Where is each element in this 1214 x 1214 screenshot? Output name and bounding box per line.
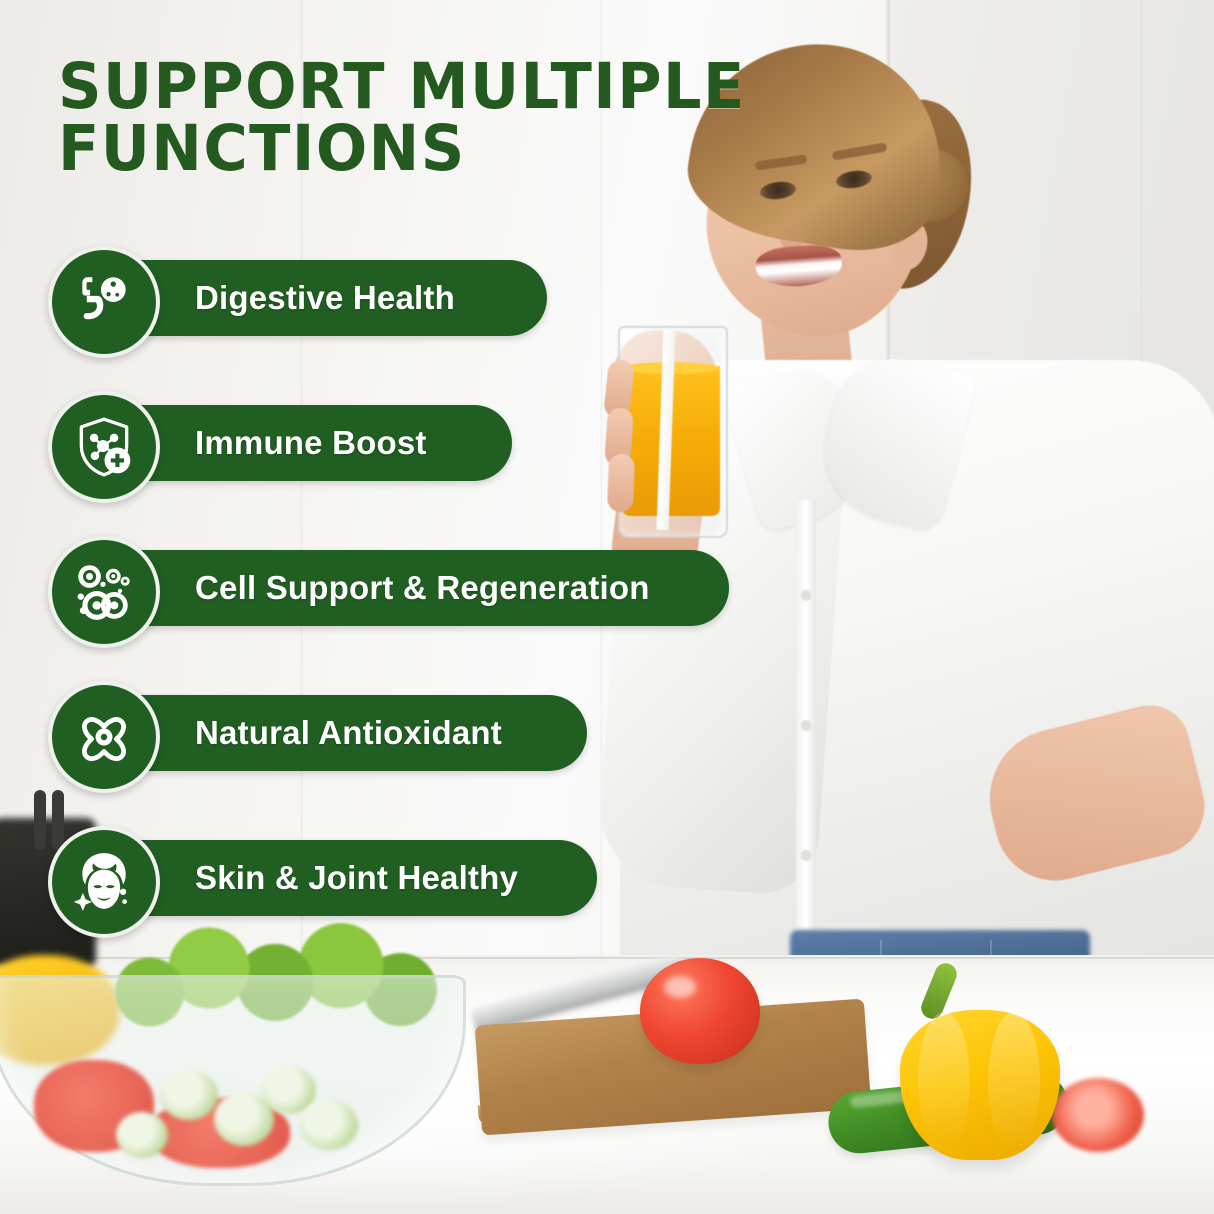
benefit-label: Skin & Joint Healthy <box>195 859 518 897</box>
benefit-item-cell-support[interactable]: Cell Support & Regeneration <box>48 536 748 640</box>
atom-antioxidant-icon <box>48 681 160 793</box>
overlay-content: SUPPORT MULTIPLE FUNCTIONS Digestive Hea… <box>0 0 1214 1214</box>
benefit-pill[interactable]: Cell Support & Regeneration <box>100 550 729 626</box>
benefit-list: Digestive Health Immune Boost <box>48 246 748 930</box>
benefit-label: Cell Support & Regeneration <box>195 569 650 607</box>
benefit-pill[interactable]: Digestive Health <box>100 260 547 336</box>
page-title: SUPPORT MULTIPLE FUNCTIONS <box>58 56 749 179</box>
stomach-digestive-icon <box>48 246 160 358</box>
benefit-label: Immune Boost <box>195 424 427 462</box>
benefit-label: Natural Antioxidant <box>195 714 502 752</box>
benefit-item-natural-antioxidant[interactable]: Natural Antioxidant <box>48 681 748 785</box>
cells-regeneration-icon <box>48 536 160 648</box>
benefit-item-skin-joint-healthy[interactable]: Skin & Joint Healthy <box>48 826 748 930</box>
benefit-label: Digestive Health <box>195 279 455 317</box>
benefit-pill[interactable]: Skin & Joint Healthy <box>100 840 597 916</box>
benefit-pill[interactable]: Immune Boost <box>100 405 512 481</box>
product-feature-graphic: SUPPORT MULTIPLE FUNCTIONS Digestive Hea… <box>0 0 1214 1214</box>
benefit-item-immune-boost[interactable]: Immune Boost <box>48 391 748 495</box>
face-mask-skin-icon <box>48 826 160 938</box>
benefit-pill[interactable]: Natural Antioxidant <box>100 695 587 771</box>
shield-plus-immune-icon <box>48 391 160 503</box>
benefit-item-digestive-health[interactable]: Digestive Health <box>48 246 748 350</box>
